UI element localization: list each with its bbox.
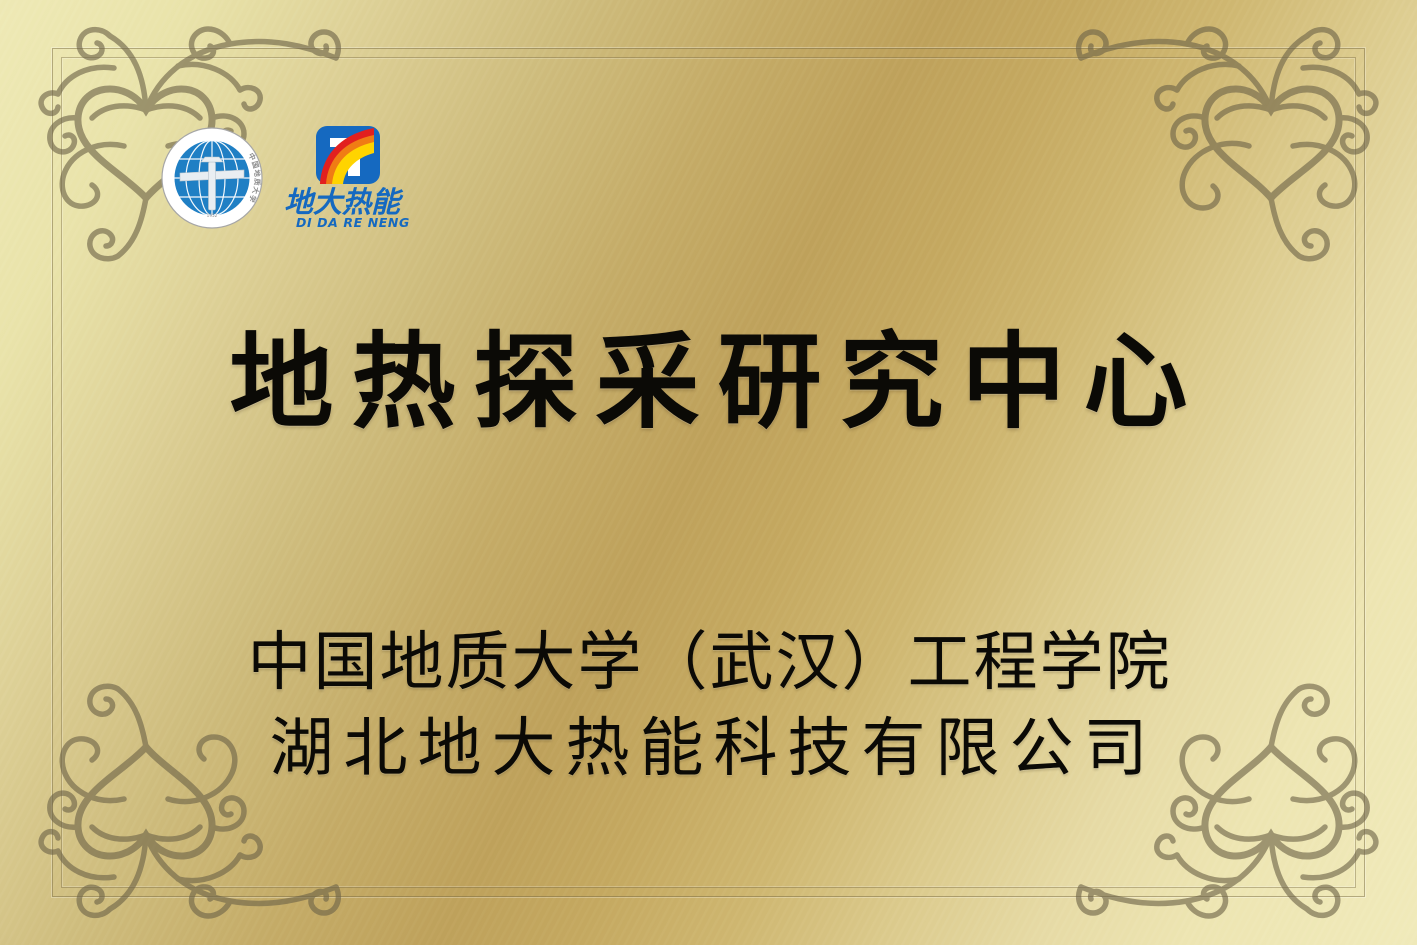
plaque-subtitles: 中国地质大学（武汉）工程学院 湖北地大热能科技有限公司 — [0, 620, 1417, 793]
svg-text:地大热能: 地大热能 — [284, 185, 404, 219]
svg-text:1952: 1952 — [207, 213, 218, 218]
plaque-content: 中国地质大学 CHINA UNIVERSITY OF GEOSCIENCES 1… — [0, 0, 1417, 945]
cug-emblem-icon: 中国地质大学 CHINA UNIVERSITY OF GEOSCIENCES 1… — [160, 126, 264, 230]
subtitle-line-2: 湖北地大热能科技有限公司 — [0, 706, 1417, 792]
svg-text:DI DA RE NENG: DI DA RE NENG — [296, 215, 410, 230]
logo-group: 中国地质大学 CHINA UNIVERSITY OF GEOSCIENCES 1… — [160, 126, 418, 230]
plaque-title: 地热探采研究中心 — [0, 330, 1417, 434]
subtitle-line-1: 中国地质大学（武汉）工程学院 — [0, 620, 1417, 706]
didareneng-logo-icon: 地大热能 DI DA RE NENG — [282, 126, 418, 230]
plaque: 中国地质大学 CHINA UNIVERSITY OF GEOSCIENCES 1… — [0, 0, 1417, 945]
